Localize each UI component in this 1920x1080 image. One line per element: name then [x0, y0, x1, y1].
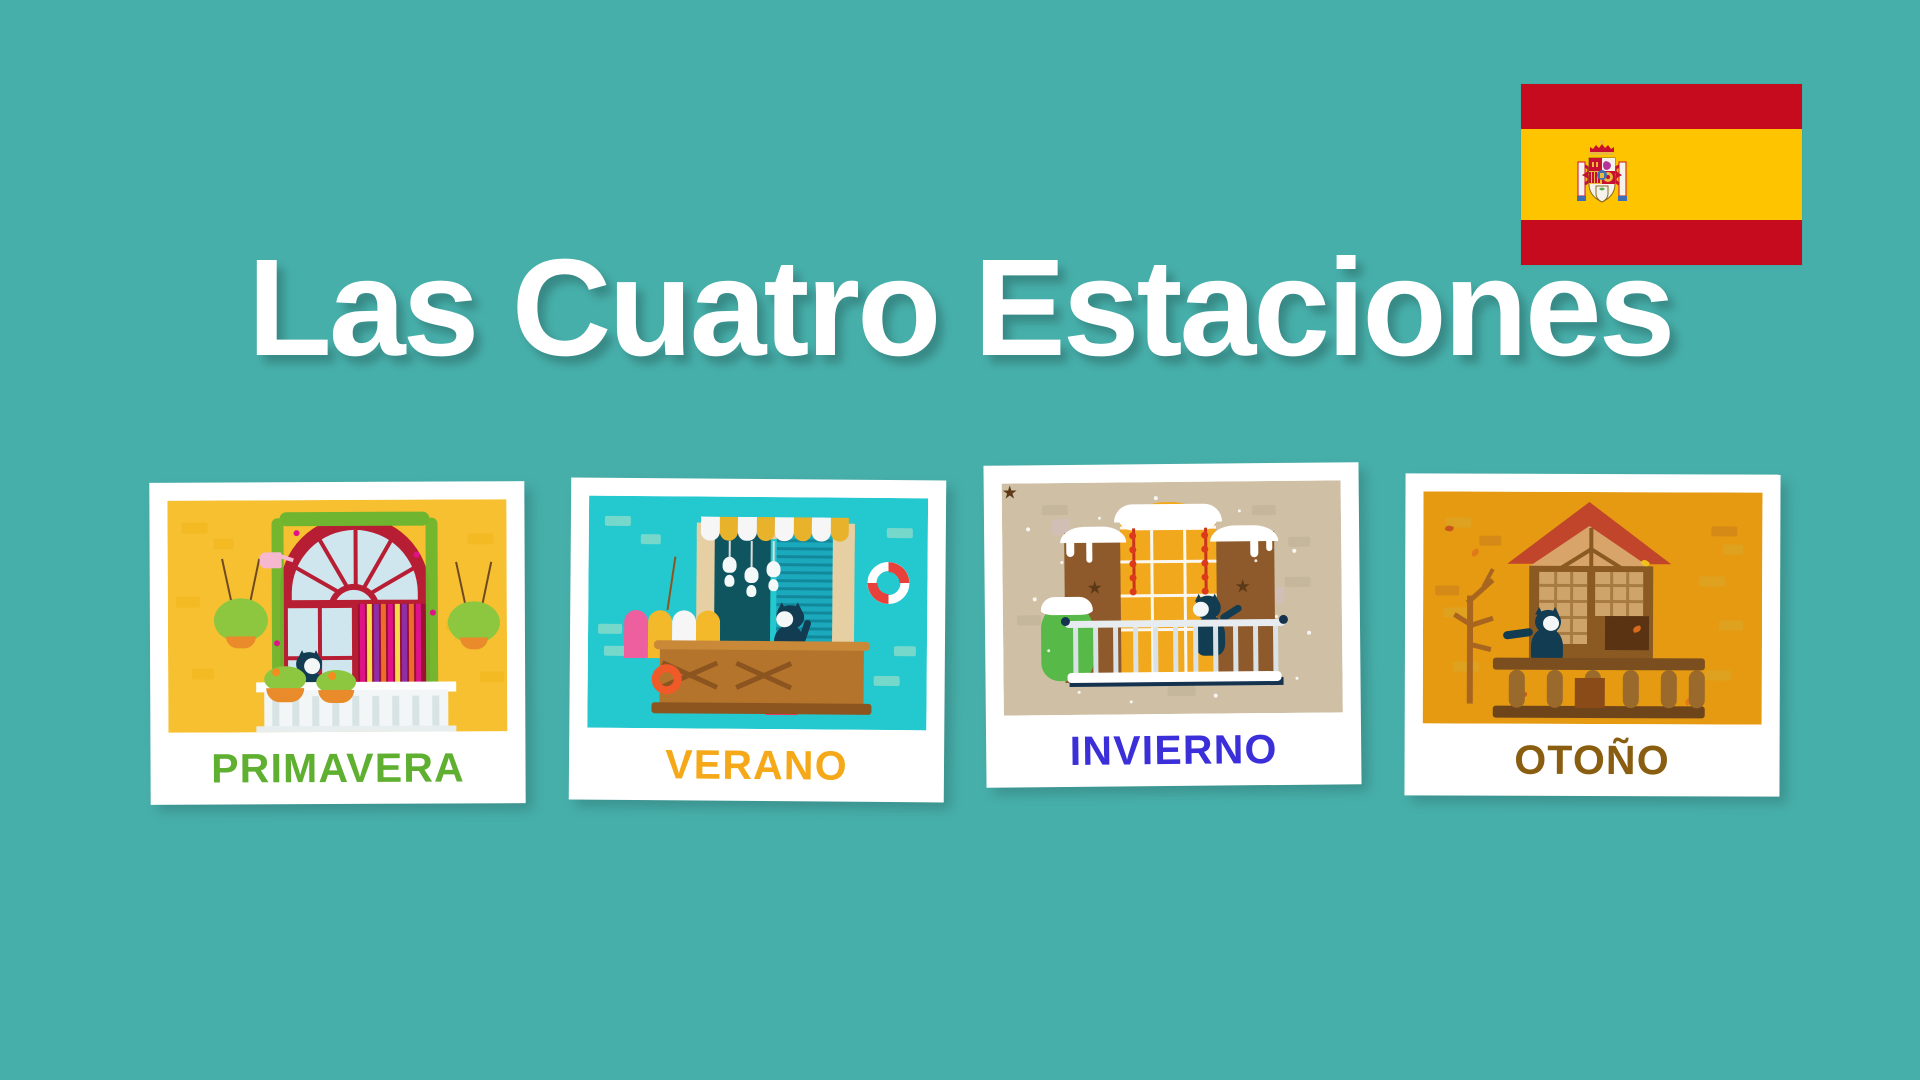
season-card-invierno[interactable]: ★ ★ ★	[983, 462, 1361, 788]
season-photo-invierno: ★ ★ ★	[1002, 480, 1343, 715]
page-title: Las Cuatro Estaciones	[0, 238, 1920, 379]
season-label-otono: OTOÑO	[1422, 723, 1761, 796]
season-label-invierno: INVIERNO	[1004, 712, 1344, 787]
flag-band-yellow	[1521, 129, 1802, 220]
coat-of-arms-icon	[1573, 136, 1631, 214]
season-photo-verano	[587, 496, 928, 731]
season-photo-primavera	[167, 499, 507, 732]
flag-band-red-top	[1521, 84, 1802, 129]
season-label-verano: VERANO	[587, 728, 927, 803]
seasons-card-row: PRIMAVERA	[0, 470, 1920, 820]
season-label-primavera: PRIMAVERA	[168, 731, 507, 804]
season-card-primavera[interactable]: PRIMAVERA	[149, 481, 525, 805]
season-card-verano[interactable]: VERANO	[569, 478, 947, 803]
life-ring-icon	[867, 562, 909, 604]
season-card-otono[interactable]: OTOÑO	[1404, 473, 1780, 796]
season-photo-otono	[1423, 491, 1763, 724]
